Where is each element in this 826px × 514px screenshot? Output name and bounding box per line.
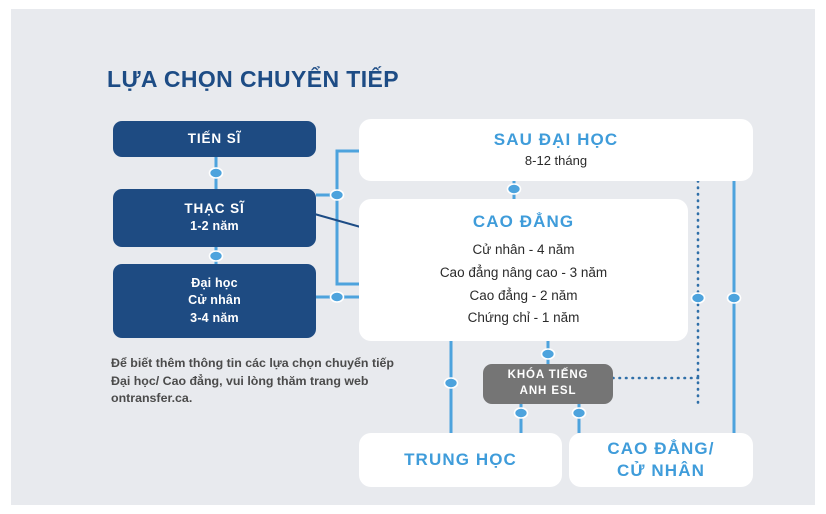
panel-college-list: Cử nhân - 4 năm Cao đẳng nâng cao - 3 nă…: [440, 240, 607, 330]
college-item-bachelor: Cử nhân - 4 năm: [440, 240, 607, 261]
panel-graduate-studies[interactable]: SAU ĐẠI HỌC 8-12 tháng: [359, 119, 753, 181]
box-doctorate-heading: TIẾN SĨ: [188, 130, 242, 148]
box-college-bachelor-line2: CỬ NHÂN: [617, 460, 705, 482]
box-college-bachelor[interactable]: CAO ĐẲNG/ CỬ NHÂN: [569, 433, 753, 487]
box-college-bachelor-line1: CAO ĐẲNG/: [607, 438, 714, 460]
box-masters-heading: THẠC SĨ: [184, 200, 244, 218]
page-title: LỰA CHỌN CHUYỂN TIẾP: [107, 66, 399, 93]
box-esl-line2: ANH ESL: [520, 384, 577, 400]
panel-college[interactable]: CAO ĐẲNG Cử nhân - 4 năm Cao đẳng nâng c…: [359, 199, 688, 341]
box-esl-line1: KHÓA TIẾNG: [508, 368, 589, 384]
panel-graduate-duration: 8-12 tháng: [525, 151, 587, 171]
box-masters[interactable]: THẠC SĨ 1-2 năm: [113, 189, 316, 247]
box-doctorate[interactable]: TIẾN SĨ: [113, 121, 316, 157]
college-item-advanced-diploma: Cao đẳng nâng cao - 3 năm: [440, 263, 607, 284]
box-high-school[interactable]: TRUNG HỌC: [359, 433, 562, 487]
box-high-school-heading: TRUNG HỌC: [404, 449, 517, 471]
diagram-background: LỰA CHỌN CHUYỂN TIẾP TIẾN SĨ THẠC SĨ 1-2…: [11, 9, 815, 505]
box-masters-duration: 1-2 năm: [190, 218, 239, 236]
box-undergraduate[interactable]: Đại học Cử nhân 3-4 năm: [113, 264, 316, 338]
panel-college-heading: CAO ĐẲNG: [473, 211, 574, 233]
box-undergraduate-line1: Đại học: [191, 275, 238, 293]
college-item-certificate: Chứng chỉ - 1 năm: [440, 308, 607, 329]
footnote-text: Để biết thêm thông tin các lựa chọn chuy…: [111, 355, 411, 408]
box-esl-program[interactable]: KHÓA TIẾNG ANH ESL: [483, 364, 613, 404]
infographic-canvas: LỰA CHỌN CHUYỂN TIẾP TIẾN SĨ THẠC SĨ 1-2…: [0, 0, 826, 514]
box-undergraduate-line2: Cử nhân: [188, 292, 241, 310]
box-undergraduate-line3: 3-4 năm: [190, 310, 239, 328]
college-item-diploma: Cao đẳng - 2 năm: [440, 286, 607, 307]
panel-graduate-heading: SAU ĐẠI HỌC: [494, 129, 619, 151]
